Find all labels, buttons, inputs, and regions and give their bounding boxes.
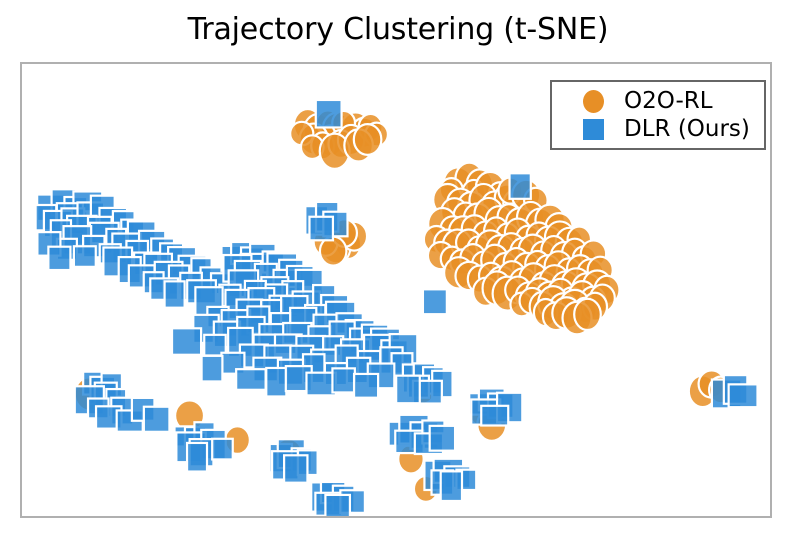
- plot-area: O2O-RL DLR (Ours): [20, 62, 772, 518]
- data-point: [236, 369, 265, 390]
- series-dlr-ours-: [36, 100, 758, 516]
- data-point: [481, 406, 508, 426]
- data-point: [574, 299, 601, 330]
- legend-swatch-cell: [562, 119, 624, 140]
- data-point: [354, 124, 382, 155]
- data-point: [396, 376, 420, 404]
- data-point: [284, 455, 307, 482]
- data-point: [212, 439, 233, 460]
- legend-swatch-cell: [562, 90, 624, 113]
- figure-container: Trajectory Clustering (t-SNE) O2O-RL DLR…: [0, 0, 796, 542]
- circle-marker-icon: [583, 90, 604, 113]
- legend: O2O-RL DLR (Ours): [550, 80, 766, 150]
- data-point: [729, 384, 758, 407]
- legend-label-o2o-rl: O2O-RL: [624, 88, 713, 114]
- data-point: [266, 368, 286, 397]
- data-point: [144, 407, 170, 432]
- page-title: Trajectory Clustering (t-SNE): [0, 11, 796, 49]
- data-point: [172, 328, 201, 354]
- legend-label-dlr-ours: DLR (Ours): [624, 116, 750, 142]
- data-point: [510, 173, 531, 199]
- data-point: [309, 217, 332, 241]
- data-point: [48, 247, 70, 270]
- data-point: [325, 495, 350, 516]
- data-point: [332, 368, 354, 392]
- data-point: [430, 426, 455, 451]
- square-marker-icon: [583, 119, 604, 140]
- data-point: [354, 374, 378, 398]
- data-point: [187, 443, 207, 472]
- data-point: [202, 356, 223, 382]
- legend-item-dlr-ours: DLR (Ours): [562, 116, 754, 142]
- data-point: [74, 246, 96, 267]
- data-point: [441, 471, 462, 501]
- legend-item-o2o-rl: O2O-RL: [562, 88, 754, 114]
- data-point: [316, 100, 342, 128]
- data-point: [423, 289, 447, 314]
- data-point: [165, 281, 185, 307]
